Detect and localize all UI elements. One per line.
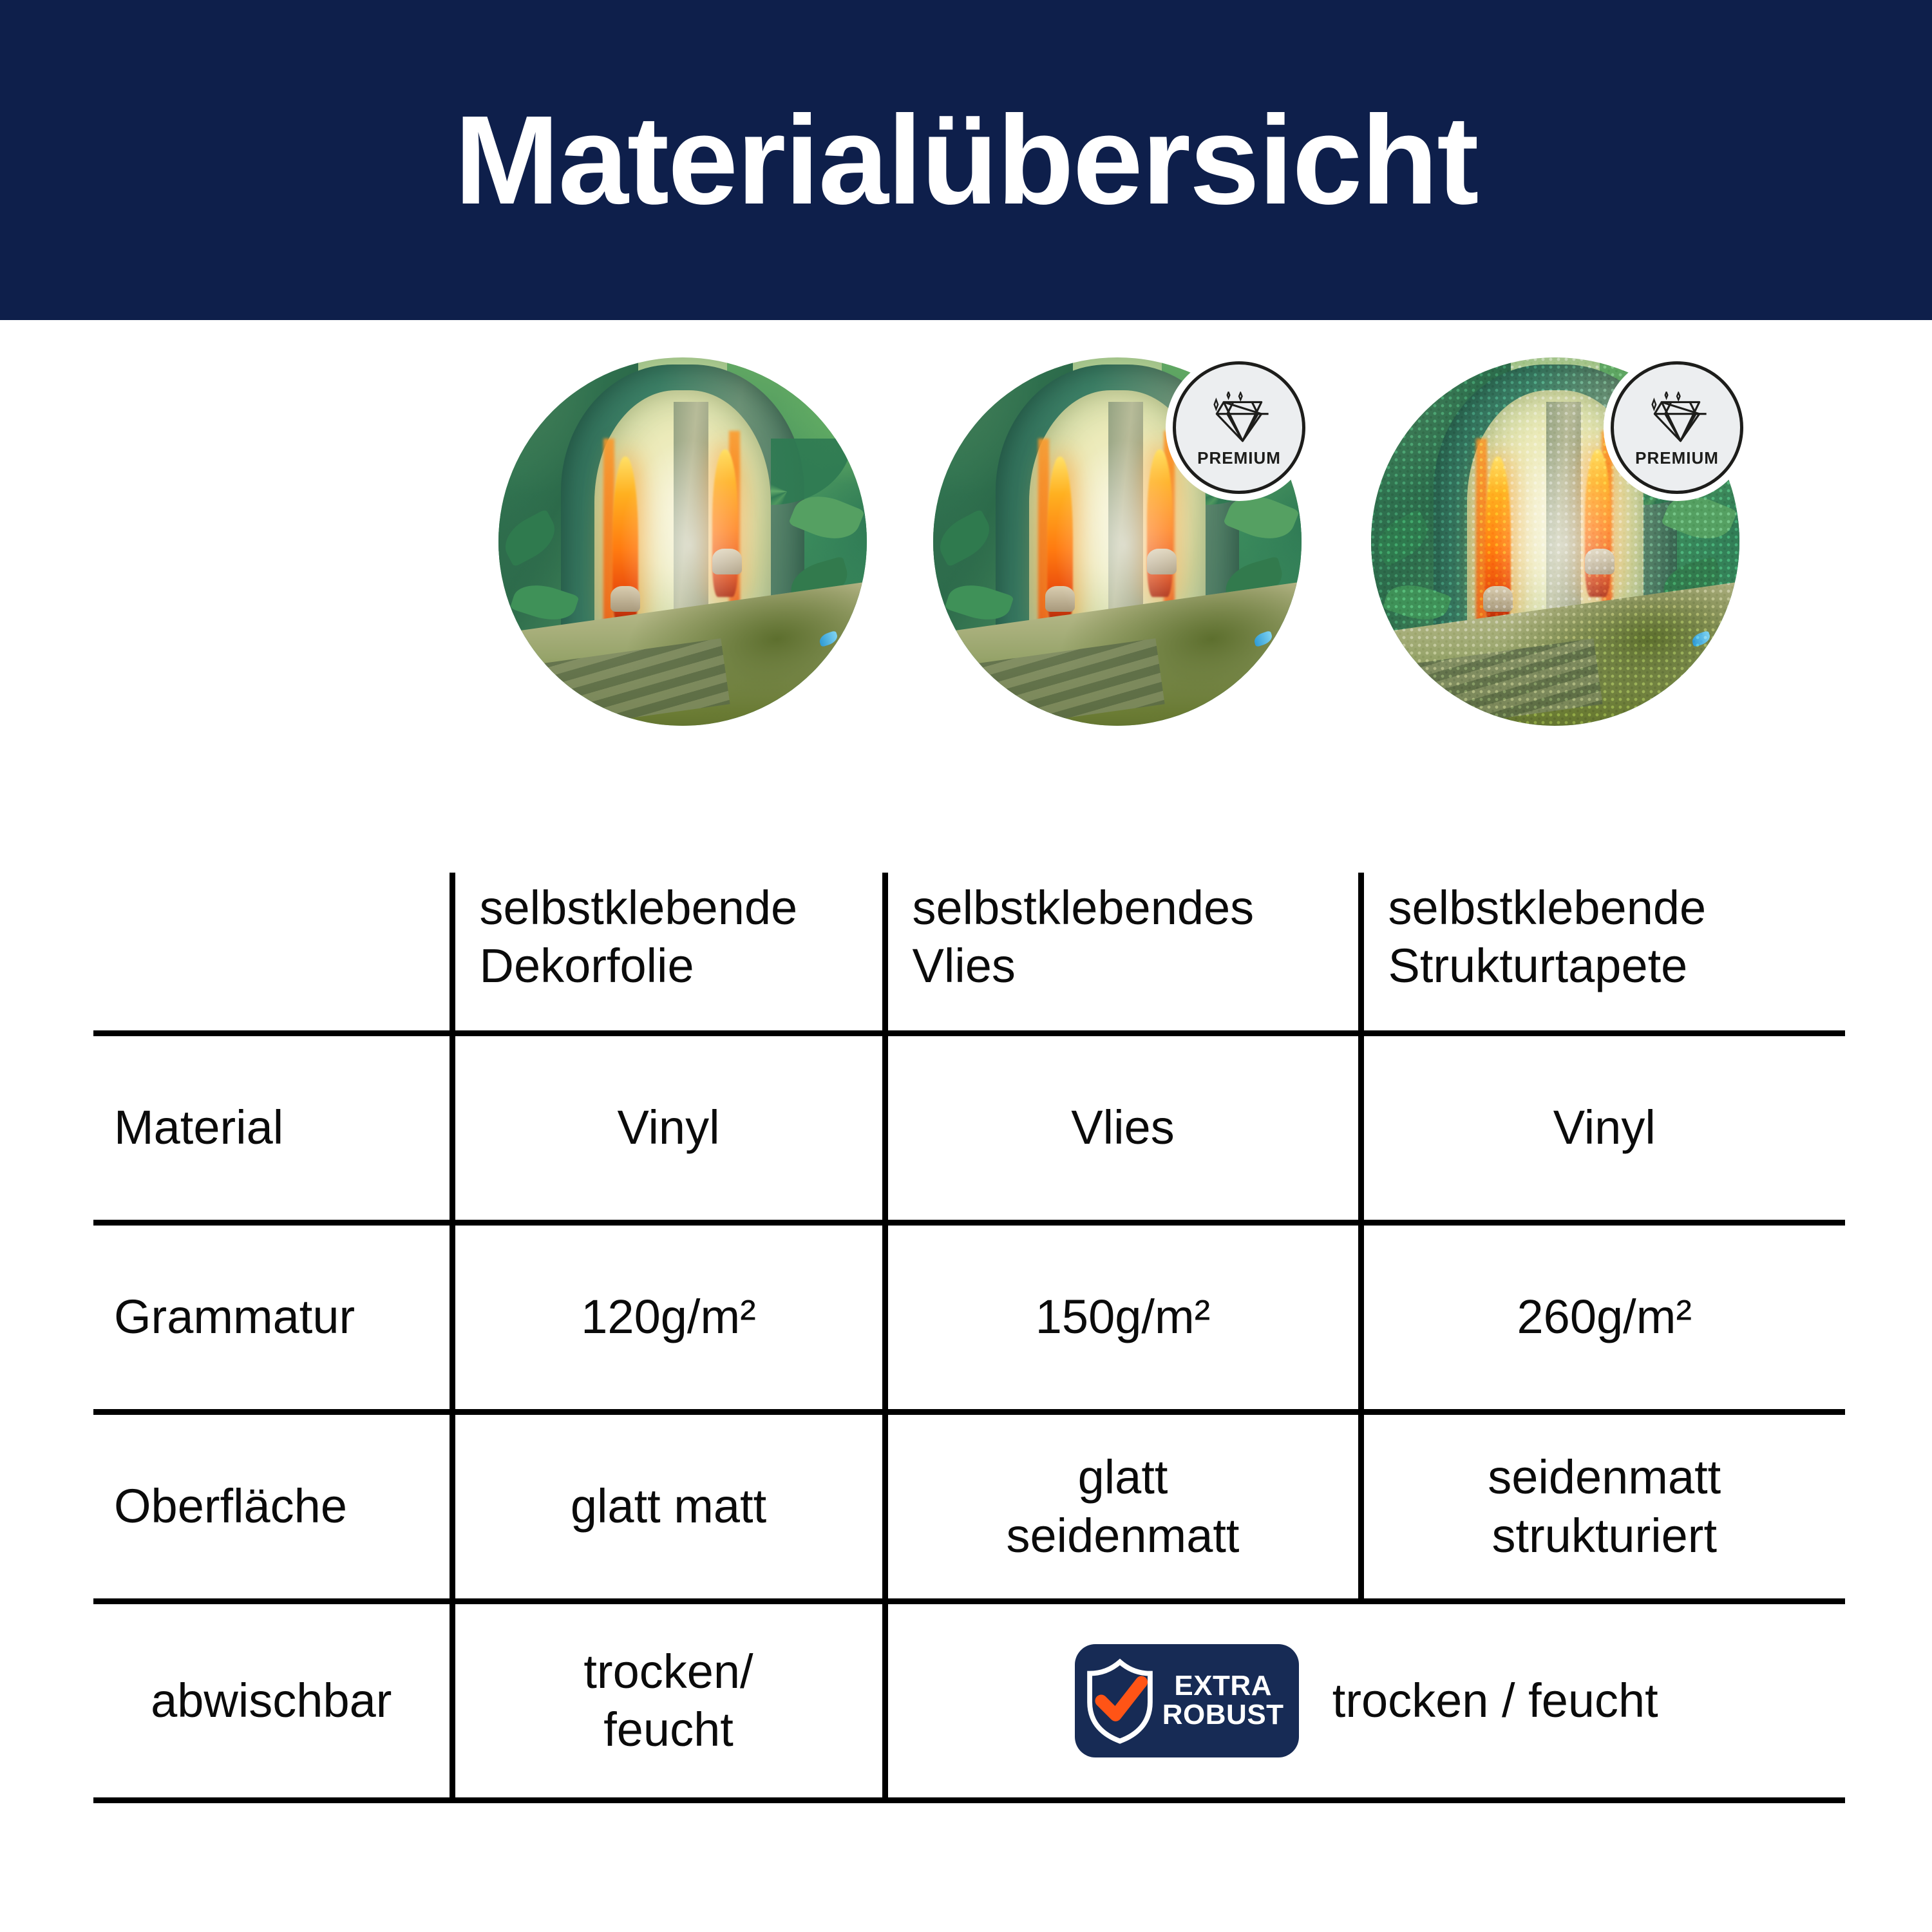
product-preview-1[interactable] [498, 357, 867, 726]
table-row-grammatur: Grammatur 120g/m² 150g/m² 260g/m² [93, 1223, 1845, 1412]
product-preview-3[interactable]: PREMIUM [1371, 357, 1739, 726]
premium-badge: PREMIUM [1611, 361, 1743, 494]
table-row-material: Material Vinyl Vlies Vinyl [93, 1034, 1845, 1223]
product-preview-2[interactable]: PREMIUM [933, 357, 1302, 726]
cell-material-strukturtapete: Vinyl [1361, 1034, 1845, 1223]
table-header-dekorfolie: selbstklebende Dekorfolie [452, 873, 885, 1034]
table-header-vlies: selbstklebendes Vlies [885, 873, 1361, 1034]
cell-abwischbar-merged: EXTRA ROBUST trocken / feucht [885, 1602, 1845, 1801]
cell-abwischbar-dekorfolie: trocken/ feucht [452, 1602, 885, 1801]
preview-image-dekorfolie[interactable] [498, 357, 867, 726]
premium-badge-label: PREMIUM [1197, 448, 1281, 468]
row-label-abwischbar: abwischbar [93, 1602, 452, 1801]
spec-table: selbstklebende Dekorfolie selbstklebende… [93, 873, 1845, 1803]
cell-abwischbar-value: trocken / feucht [1332, 1672, 1658, 1730]
extra-robust-badge: EXTRA ROBUST [1075, 1644, 1299, 1757]
cell-grammatur-vlies: 150g/m² [885, 1223, 1361, 1412]
page-title: Materialübersicht [455, 97, 1478, 223]
shield-check-icon [1084, 1658, 1156, 1744]
product-previews: PREMIUM [0, 357, 1932, 744]
cell-material-dekorfolie: Vinyl [452, 1034, 885, 1223]
row-label-material: Material [93, 1034, 452, 1223]
table-header-empty [93, 873, 452, 1034]
premium-badge: PREMIUM [1173, 361, 1305, 494]
table-header-row: selbstklebende Dekorfolie selbstklebende… [93, 873, 1845, 1034]
diamond-icon [1647, 392, 1707, 446]
material-spec-table: selbstklebende Dekorfolie selbstklebende… [93, 873, 1845, 1803]
table-row-oberflaeche: Oberfläche glatt matt glatt seidenmatt s… [93, 1412, 1845, 1602]
cell-grammatur-strukturtapete: 260g/m² [1361, 1223, 1845, 1412]
extra-robust-line1: EXTRA [1162, 1672, 1284, 1701]
premium-badge-label: PREMIUM [1635, 448, 1719, 468]
header-band: Materialübersicht [0, 0, 1932, 320]
diamond-icon [1209, 392, 1269, 446]
cell-material-vlies: Vlies [885, 1034, 1361, 1223]
cell-oberflaeche-vlies: glatt seidenmatt [885, 1412, 1361, 1602]
table-row-abwischbar: abwischbar trocken/ feucht EXTRA ROBUST [93, 1602, 1845, 1801]
cell-oberflaeche-dekorfolie: glatt matt [452, 1412, 885, 1602]
cell-oberflaeche-strukturtapete: seidenmatt strukturiert [1361, 1412, 1845, 1602]
cell-grammatur-dekorfolie: 120g/m² [452, 1223, 885, 1412]
extra-robust-line2: ROBUST [1162, 1701, 1284, 1730]
row-label-grammatur: Grammatur [93, 1223, 452, 1412]
row-label-oberflaeche: Oberfläche [93, 1412, 452, 1602]
table-header-strukturtapete: selbstklebende Strukturtapete [1361, 873, 1845, 1034]
